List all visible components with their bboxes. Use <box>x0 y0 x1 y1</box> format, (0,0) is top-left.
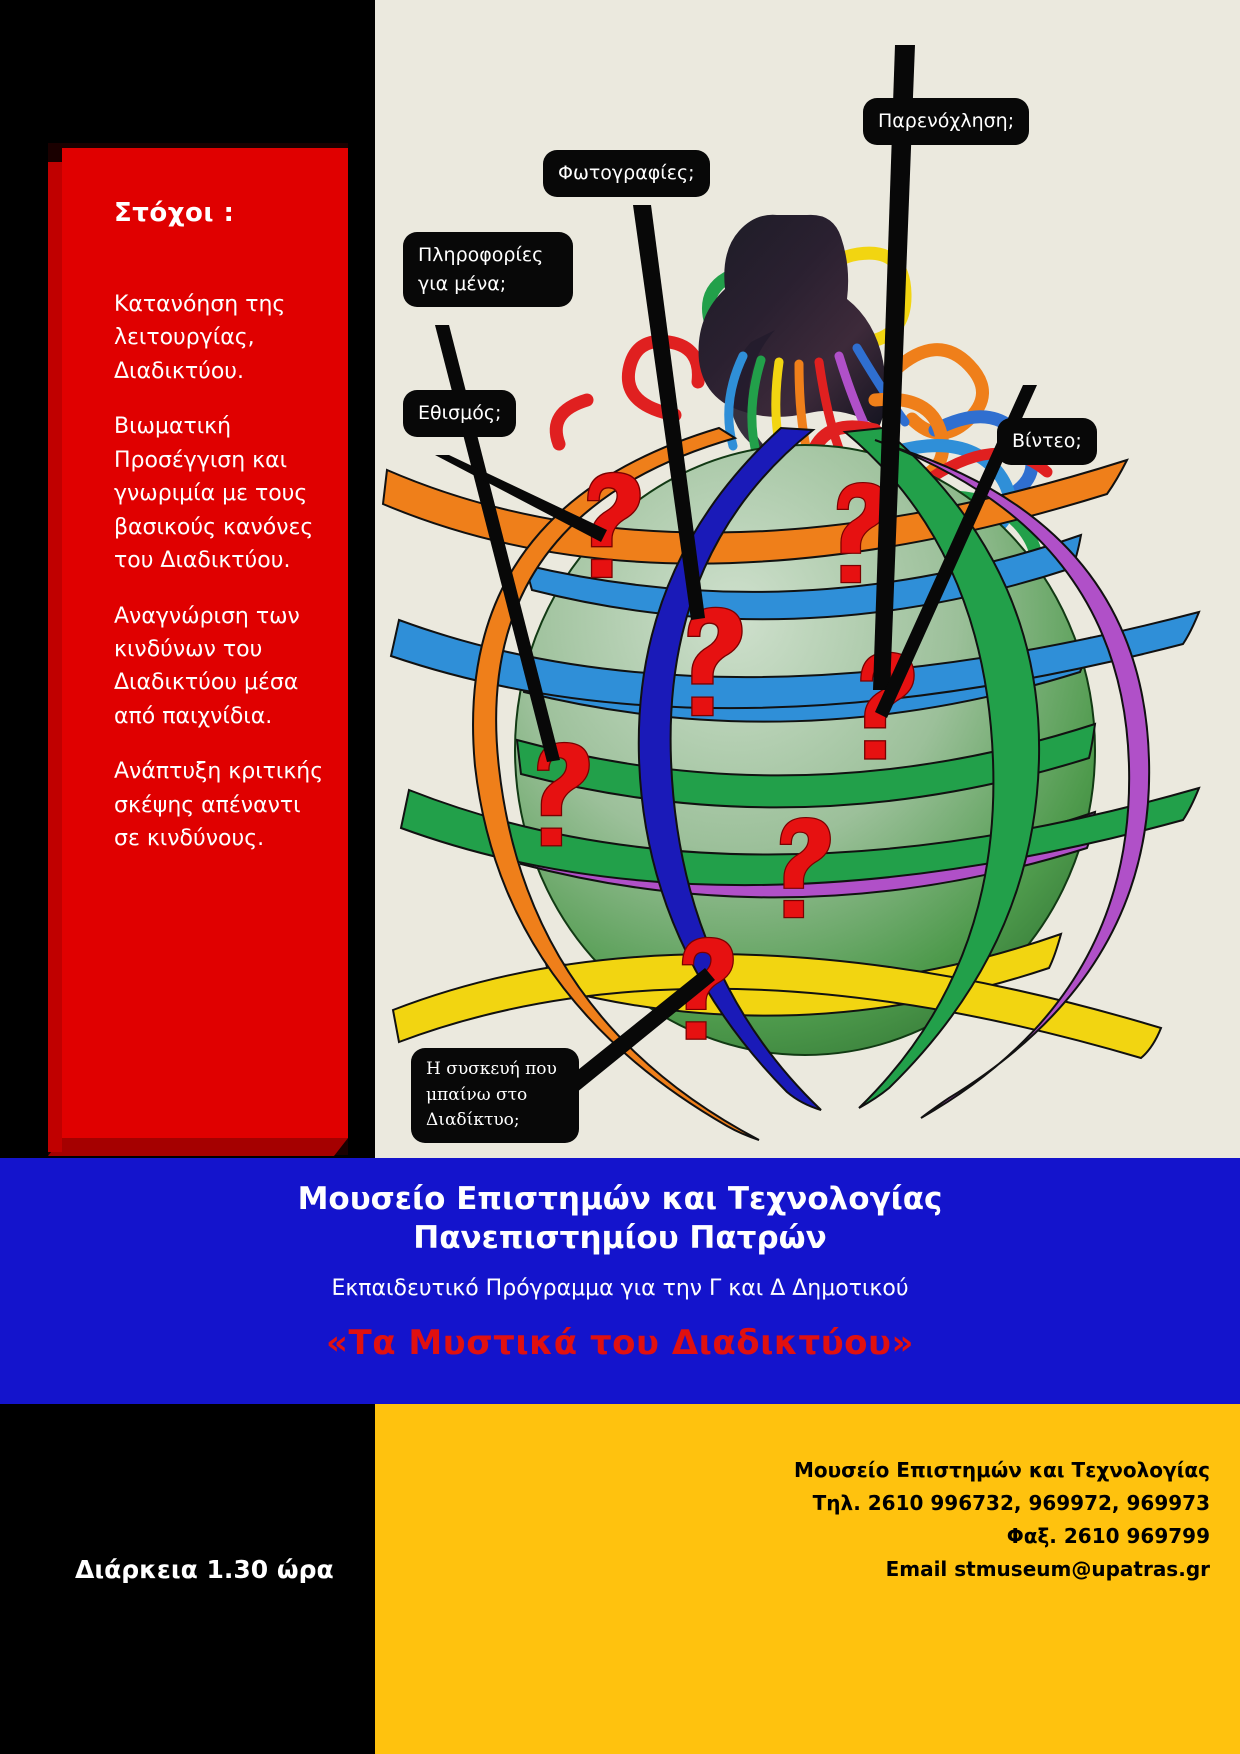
bubble-addiction[interactable]: Εθισμός; <box>403 390 516 437</box>
bubble-photos[interactable]: Φωτογραφίες; <box>543 150 710 197</box>
globe-illustration <box>375 0 1240 1158</box>
goals-panel: Στόχοι : Κατανόηση της λειτουργίας, Διαδ… <box>62 148 348 1138</box>
contact-details: Μουσείο Επιστημών και Τεχνολογίας Τηλ. 2… <box>794 1454 1210 1586</box>
contact-museum-name: Μουσείο Επιστημών και Τεχνολογίας <box>794 1454 1210 1487</box>
banner-title-line2: Πανεπιστημίου Πατρών <box>0 1219 1240 1258</box>
bubble-device-line2: μπαίνω στο <box>426 1083 564 1109</box>
goals-heading: Στόχοι : <box>114 198 234 228</box>
bubble-device-line3: Διαδίκτυο; <box>426 1108 564 1134</box>
goal-item: Αναγνώριση των κινδύνων του Διαδικτύου μ… <box>114 600 329 734</box>
banner-title: Μουσείο Επιστημών και Τεχνολογίας Πανεπι… <box>0 1180 1240 1258</box>
goals-panel-bevel-bottom <box>48 1138 348 1156</box>
contact-phone: Τηλ. 2610 996732, 969972, 969973 <box>794 1487 1210 1520</box>
duration-label: Διάρκεια 1.30 ώρα <box>75 1555 334 1584</box>
contact-email[interactable]: Email stmuseum@upatras.gr <box>794 1553 1210 1586</box>
contact-box: Μουσείο Επιστημών και Τεχνολογίας Τηλ. 2… <box>375 1404 1240 1754</box>
banner-title-line1: Μουσείο Επιστημών και Τεχνολογίας <box>0 1180 1240 1219</box>
illustration-panel: Πληροφορίες για μένα; Φωτογραφίες; Παρεν… <box>375 0 1240 1158</box>
bubble-video[interactable]: Βίντεο; <box>997 418 1097 465</box>
bubble-information-line2: για μένα; <box>418 270 558 299</box>
bubble-device[interactable]: Η συσκευή που μπαίνω στο Διαδίκτυο; <box>411 1048 579 1143</box>
bubble-device-line1: Η συσκευή που <box>426 1057 564 1083</box>
banner-subtitle: Εκπαιδευτικό Πρόγραμμα για την Γ και Δ Δ… <box>0 1276 1240 1301</box>
goal-item: Ανάπτυξη κριτικής σκέψης απέναντι σε κιν… <box>114 755 329 855</box>
contact-fax: Φαξ. 2610 969799 <box>794 1520 1210 1553</box>
bubble-information[interactable]: Πληροφορίες για μένα; <box>403 232 573 307</box>
goal-item: Κατανόηση της λειτουργίας, Διαδικτύου. <box>114 288 329 388</box>
bubble-information-line1: Πληροφορίες <box>418 241 558 270</box>
goal-item: Βιωματική Προσέγγιση και γνωριμία με του… <box>114 410 329 577</box>
program-title: «Τα Μυστικά του Διαδικτύου» <box>0 1323 1240 1363</box>
goals-list: Κατανόηση της λειτουργίας, Διαδικτύου. Β… <box>114 288 329 878</box>
poster-root: Πληροφορίες για μένα; Φωτογραφίες; Παρεν… <box>0 0 1240 1754</box>
bubble-harassment[interactable]: Παρενόχληση; <box>863 98 1029 145</box>
museum-banner: Μουσείο Επιστημών και Τεχνολογίας Πανεπι… <box>0 1158 1240 1404</box>
